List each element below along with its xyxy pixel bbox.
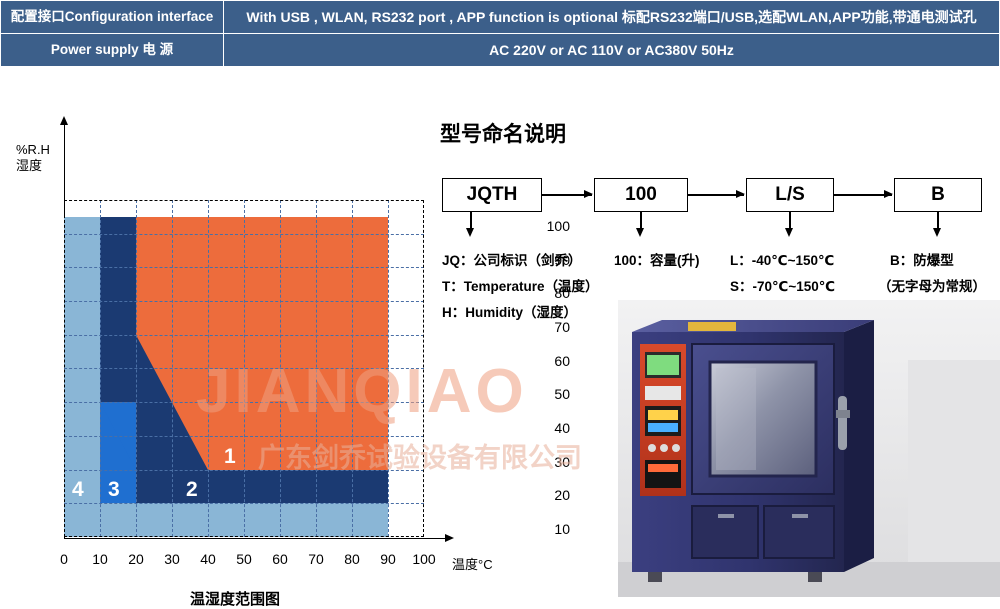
x-tick-90: 90 (376, 551, 400, 567)
y-tick-50: 50 (530, 386, 570, 402)
naming-section-title: 型号命名说明 (440, 118, 566, 148)
x-tick-80: 80 (340, 551, 364, 567)
naming-arrow-2 (688, 194, 744, 196)
naming-arrow-3 (834, 194, 892, 196)
naming-legend-capacity: 100：容量(升) (614, 249, 700, 269)
chart-region-label-3: 3 (108, 478, 120, 502)
chart-region-label-2: 2 (186, 478, 198, 502)
y-tick-100: 100 (530, 218, 570, 234)
naming-legend-s: S：-70℃~150℃ (730, 275, 835, 295)
x-tick-50: 50 (232, 551, 256, 567)
naming-legend-h: H：Humidity（湿度） (442, 301, 577, 321)
x-tick-40: 40 (196, 551, 220, 567)
spec-value-config-interface: With USB , WLAN, RS232 port , APP functi… (224, 1, 1000, 34)
chart-y-axis-label: %R.H 湿度 (16, 142, 50, 175)
x-tick-60: 60 (268, 551, 292, 567)
x-tick-0: 0 (52, 551, 76, 567)
naming-box-jqth: JQTH (442, 178, 542, 212)
naming-downarrow-3 (789, 211, 791, 229)
x-tick-30: 30 (160, 551, 184, 567)
naming-legend-jq: JQ：公司标识（剑乔） (442, 249, 582, 269)
naming-legend-normal: （无字母为常规） (878, 275, 986, 295)
x-tick-10: 10 (88, 551, 112, 567)
naming-downarrow-4 (937, 211, 939, 229)
chart-x-axis (64, 538, 446, 539)
table-row: 配置接口Configuration interface With USB , W… (1, 1, 1000, 34)
x-tick-20: 20 (124, 551, 148, 567)
y-tick-70: 70 (530, 319, 570, 335)
naming-downarrow-2 (640, 211, 642, 229)
spec-value-power-supply: AC 220V or AC 110V or AC380V 50Hz (224, 34, 1000, 67)
naming-legend-t: T：Temperature（温度） (442, 275, 599, 295)
spec-label-config-interface: 配置接口Configuration interface (1, 1, 224, 34)
product-photo-illustration (618, 300, 1000, 597)
naming-box-temprange: L/S (746, 178, 834, 212)
naming-legend-l: L：-40℃~150℃ (730, 249, 834, 269)
naming-legend-b: B：防爆型 (890, 249, 954, 269)
x-tick-70: 70 (304, 551, 328, 567)
x-tick-100: 100 (412, 551, 436, 567)
y-tick-30: 30 (530, 454, 570, 470)
chart-title: 温湿度范围图 (190, 588, 280, 609)
chart-region-label-4: 4 (72, 478, 84, 502)
y-tick-60: 60 (530, 353, 570, 369)
table-row: Power supply 电 源 AC 220V or AC 110V or A… (1, 34, 1000, 67)
y-tick-20: 20 (530, 487, 570, 503)
naming-arrow-1 (542, 194, 592, 196)
chart-plot-area: 1 2 3 4 (64, 200, 424, 537)
chart-x-axis-label: 温度°C (452, 554, 493, 573)
naming-box-capacity: 100 (594, 178, 688, 212)
y-tick-10: 10 (530, 521, 570, 537)
spec-table: 配置接口Configuration interface With USB , W… (0, 0, 1000, 67)
chart-region-label-1: 1 (224, 445, 236, 469)
naming-box-type: B (894, 178, 982, 212)
spec-label-power-supply: Power supply 电 源 (1, 34, 224, 67)
naming-downarrow-1 (470, 211, 472, 229)
product-photo (618, 300, 1000, 597)
y-tick-40: 40 (530, 420, 570, 436)
